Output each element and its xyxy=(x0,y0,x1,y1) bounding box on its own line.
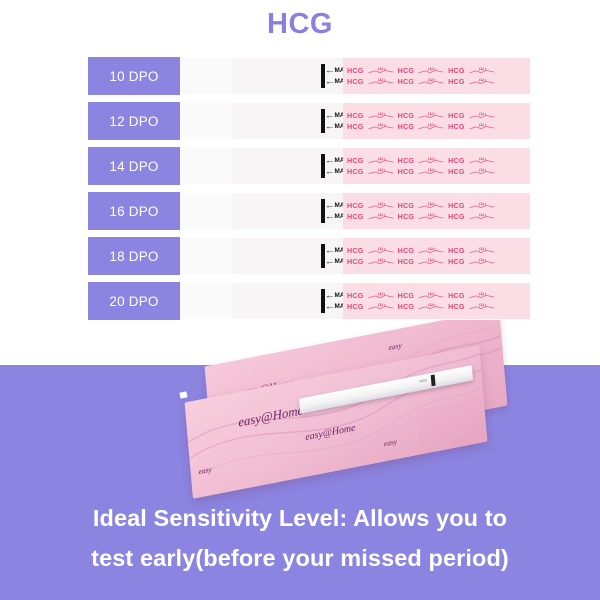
hcg-swirl-icon xyxy=(469,77,495,86)
hcg-swirl-icon xyxy=(469,156,495,165)
strip-absorbent-end xyxy=(180,58,232,94)
hcg-band-word: HCG xyxy=(398,77,415,86)
hcg-printed-band: HCGHCGHCGHCGHCGHCG xyxy=(343,193,530,229)
arrow-left-icon: ← xyxy=(325,78,335,86)
hcg-swirl-icon xyxy=(368,111,394,120)
banner-line-1: Ideal Sensitivity Level: Allows you to xyxy=(0,498,600,538)
hcg-band-word: HCG xyxy=(347,156,364,165)
arrow-left-icon: ← xyxy=(325,247,335,255)
hcg-band-word: HCG xyxy=(448,257,465,266)
hcg-band-row: HCGHCGHCG xyxy=(347,245,530,256)
arrow-left-icon: ← xyxy=(325,258,335,266)
test-strip: ←MAX←MAXHCGHCGHCGHCGHCGHCG xyxy=(180,282,530,320)
hcg-swirl-icon xyxy=(418,257,444,266)
hcg-swirl-icon xyxy=(469,66,495,75)
hcg-band-word: HCG xyxy=(448,66,465,75)
hcg-band-word: HCG xyxy=(347,201,364,210)
packet-tear-notch xyxy=(179,391,187,398)
hcg-swirl-icon xyxy=(368,257,394,266)
hcg-band-word: HCG xyxy=(398,111,415,120)
hcg-swirl-icon xyxy=(368,246,394,255)
row-label-10-dpo: 10 DPO xyxy=(88,57,180,95)
table-row: 18 DPO←MAX←MAXHCGHCGHCGHCGHCGHCG xyxy=(88,237,530,275)
page-root: HCG 10 DPO←MAX←MAXHCGHCGHCGHCGHCGHCG12 D… xyxy=(0,0,600,600)
arrow-left-icon: ← xyxy=(325,202,335,210)
table-row: 16 DPO←MAX←MAXHCGHCGHCGHCGHCGHCG xyxy=(88,192,530,230)
hcg-printed-band: HCGHCGHCGHCGHCGHCG xyxy=(343,58,530,94)
row-label-16-dpo: 16 DPO xyxy=(88,192,180,230)
photo-strip-max-bar xyxy=(431,374,436,386)
hcg-band-word: HCG xyxy=(347,167,364,176)
hcg-swirl-icon xyxy=(368,77,394,86)
hcg-band-word: HCG xyxy=(398,122,415,131)
hcg-swirl-icon xyxy=(368,302,394,311)
hcg-band-word: HCG xyxy=(448,156,465,165)
banner-line-2: test early(before your missed period) xyxy=(0,538,600,578)
hcg-band-row: HCGHCGHCG xyxy=(347,290,530,301)
hcg-swirl-icon xyxy=(368,291,394,300)
hcg-band-word: HCG xyxy=(448,111,465,120)
hcg-swirl-icon xyxy=(469,257,495,266)
hcg-swirl-icon xyxy=(418,302,444,311)
arrow-left-icon: ← xyxy=(325,303,335,311)
strip-absorbent-end xyxy=(180,193,232,229)
test-strip: ←MAX←MAXHCGHCGHCGHCGHCGHCG xyxy=(180,237,530,275)
hcg-swirl-icon xyxy=(368,201,394,210)
table-row: 10 DPO←MAX←MAXHCGHCGHCGHCGHCGHCG xyxy=(88,57,530,95)
hcg-band-row: HCGHCGHCG xyxy=(347,256,530,267)
hcg-band-word: HCG xyxy=(398,257,415,266)
hcg-band-word: HCG xyxy=(347,257,364,266)
table-row: 20 DPO←MAX←MAXHCGHCGHCGHCGHCGHCG xyxy=(88,282,530,320)
hcg-band-row: HCGHCGHCG xyxy=(347,65,530,76)
hcg-band-word: HCG xyxy=(347,246,364,255)
hcg-swirl-icon xyxy=(418,201,444,210)
arrow-left-icon: ← xyxy=(325,292,335,300)
hcg-band-word: HCG xyxy=(347,302,364,311)
test-strip: ←MAX←MAXHCGHCGHCGHCGHCGHCG xyxy=(180,57,530,95)
row-label-12-dpo: 12 DPO xyxy=(88,102,180,140)
hcg-band-word: HCG xyxy=(398,302,415,311)
hcg-band-word: HCG xyxy=(398,212,415,221)
strip-absorbent-end xyxy=(180,148,232,184)
hcg-band-row: HCGHCGHCG xyxy=(347,211,530,222)
hcg-band-word: HCG xyxy=(347,111,364,120)
hcg-printed-band: HCGHCGHCGHCGHCGHCG xyxy=(343,283,530,319)
row-label-18-dpo: 18 DPO xyxy=(88,237,180,275)
row-label-20-dpo: 20 DPO xyxy=(88,282,180,320)
hcg-band-row: HCGHCGHCG xyxy=(347,110,530,121)
hcg-band-word: HCG xyxy=(448,167,465,176)
hcg-band-row: HCGHCGHCG xyxy=(347,76,530,87)
strip-absorbent-end xyxy=(180,238,232,274)
hcg-band-word: HCG xyxy=(398,66,415,75)
hcg-band-word: HCG xyxy=(398,246,415,255)
arrow-left-icon: ← xyxy=(325,112,335,120)
hcg-swirl-icon xyxy=(418,212,444,221)
hcg-band-word: HCG xyxy=(347,122,364,131)
hcg-band-word: HCG xyxy=(398,291,415,300)
hcg-swirl-icon xyxy=(418,77,444,86)
hcg-printed-band: HCGHCGHCGHCGHCGHCG xyxy=(343,103,530,139)
hcg-swirl-icon xyxy=(469,201,495,210)
hcg-band-word: HCG xyxy=(448,77,465,86)
banner-text: Ideal Sensitivity Level: Allows you to t… xyxy=(0,498,600,578)
hcg-band-word: HCG xyxy=(448,212,465,221)
hcg-swirl-icon xyxy=(469,212,495,221)
dpo-chart: 10 DPO←MAX←MAXHCGHCGHCGHCGHCGHCG12 DPO←M… xyxy=(88,57,530,327)
test-strip: ←MAX←MAXHCGHCGHCGHCGHCGHCG xyxy=(180,102,530,140)
hcg-printed-band: HCGHCGHCGHCGHCGHCG xyxy=(343,148,530,184)
hcg-band-word: HCG xyxy=(398,167,415,176)
arrow-left-icon: ← xyxy=(325,157,335,165)
product-photo: easy@Home easy easy@Home easy@Home easy … xyxy=(178,336,578,496)
hcg-band-row: HCGHCGHCG xyxy=(347,301,530,312)
hcg-swirl-icon xyxy=(469,302,495,311)
hcg-swirl-icon xyxy=(368,167,394,176)
hcg-band-word: HCG xyxy=(347,291,364,300)
hcg-swirl-icon xyxy=(418,246,444,255)
hcg-band-row: HCGHCGHCG xyxy=(347,121,530,132)
test-strip: ←MAX←MAXHCGHCGHCGHCGHCGHCG xyxy=(180,147,530,185)
hcg-band-word: HCG xyxy=(448,246,465,255)
hcg-swirl-icon xyxy=(368,156,394,165)
arrow-left-icon: ← xyxy=(325,67,335,75)
hcg-swirl-icon xyxy=(469,122,495,131)
hcg-swirl-icon xyxy=(368,66,394,75)
hcg-swirl-icon xyxy=(368,122,394,131)
hcg-swirl-icon xyxy=(469,111,495,120)
test-strip: ←MAX←MAXHCGHCGHCGHCGHCGHCG xyxy=(180,192,530,230)
hcg-swirl-icon xyxy=(469,246,495,255)
hcg-swirl-icon xyxy=(418,111,444,120)
page-title: HCG xyxy=(0,8,600,41)
photo-strip-text: HCG xyxy=(419,378,427,383)
hcg-swirl-icon xyxy=(418,156,444,165)
hcg-swirl-icon xyxy=(418,66,444,75)
hcg-band-word: HCG xyxy=(448,302,465,311)
hcg-band-word: HCG xyxy=(347,66,364,75)
hcg-swirl-icon xyxy=(469,291,495,300)
row-label-14-dpo: 14 DPO xyxy=(88,147,180,185)
hcg-band-word: HCG xyxy=(347,77,364,86)
arrow-left-icon: ← xyxy=(325,168,335,176)
hcg-swirl-icon xyxy=(368,212,394,221)
hcg-swirl-icon xyxy=(418,291,444,300)
hcg-swirl-icon xyxy=(418,167,444,176)
table-row: 14 DPO←MAX←MAXHCGHCGHCGHCGHCGHCG xyxy=(88,147,530,185)
hcg-band-word: HCG xyxy=(448,291,465,300)
table-row: 12 DPO←MAX←MAXHCGHCGHCGHCGHCGHCG xyxy=(88,102,530,140)
hcg-band-row: HCGHCGHCG xyxy=(347,166,530,177)
hcg-swirl-icon xyxy=(469,167,495,176)
hcg-band-row: HCGHCGHCG xyxy=(347,200,530,211)
arrow-left-icon: ← xyxy=(325,213,335,221)
hcg-band-word: HCG xyxy=(448,201,465,210)
hcg-swirl-icon xyxy=(418,122,444,131)
hcg-band-word: HCG xyxy=(448,122,465,131)
arrow-left-icon: ← xyxy=(325,123,335,131)
hcg-printed-band: HCGHCGHCGHCGHCGHCG xyxy=(343,238,530,274)
hcg-band-word: HCG xyxy=(398,201,415,210)
hcg-band-row: HCGHCGHCG xyxy=(347,155,530,166)
strip-absorbent-end xyxy=(180,283,232,319)
hcg-band-word: HCG xyxy=(398,156,415,165)
strip-absorbent-end xyxy=(180,103,232,139)
hcg-band-word: HCG xyxy=(347,212,364,221)
